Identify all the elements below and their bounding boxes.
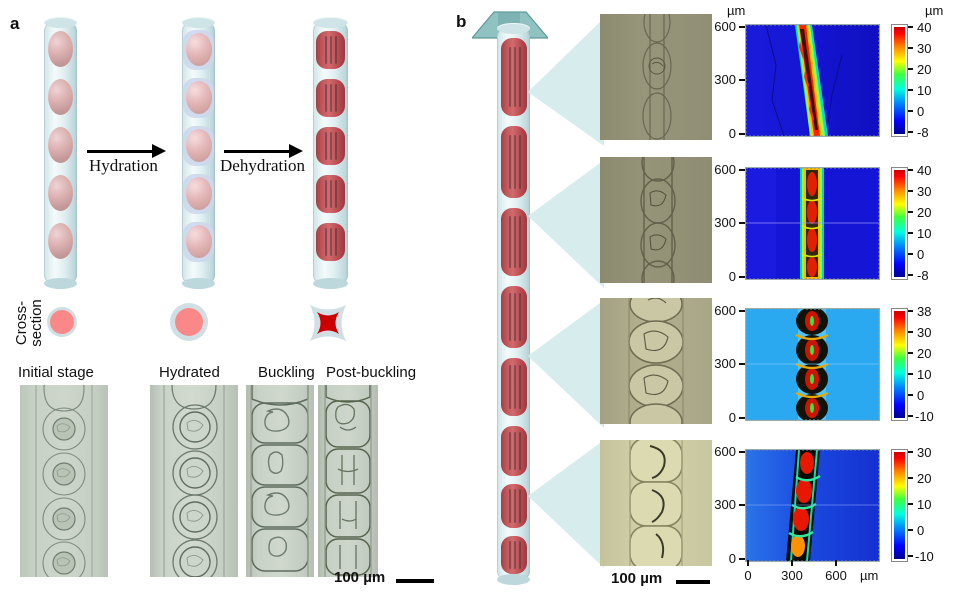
arrow-dehydration-label: Dehydration bbox=[220, 156, 305, 176]
heatmap-row2 bbox=[745, 167, 880, 280]
tube-cap-top bbox=[44, 17, 77, 28]
panel-b-capsule bbox=[501, 484, 527, 528]
row3-cb-tick-0: 0 bbox=[917, 388, 924, 403]
x-tick-0: 0 bbox=[735, 568, 761, 583]
panel-b-scale-bar-label: 100 µm bbox=[611, 570, 662, 587]
row3-ytick-600: 600 bbox=[708, 303, 736, 318]
row4-cb-tick-20: 20 bbox=[917, 471, 931, 486]
schematic-capsule bbox=[316, 175, 345, 213]
row3-cb-tick-38: 38 bbox=[917, 304, 931, 319]
schematic-sphere bbox=[48, 223, 73, 259]
tube-cap-bottom bbox=[497, 574, 530, 585]
row1-cb-tick-n8: -8 bbox=[917, 125, 929, 140]
micrograph-initial-stage bbox=[20, 385, 108, 577]
row4-cb-tick-30: 30 bbox=[917, 445, 931, 460]
panel-a-scale-bar-label: 100 µm bbox=[334, 569, 385, 586]
micrograph-post-buckling bbox=[318, 385, 378, 577]
tube-cap-top bbox=[182, 17, 215, 28]
x-tick-600: 600 bbox=[823, 568, 849, 583]
panel-b-micrograph-row4 bbox=[600, 440, 712, 566]
cross-section-label-line2: section bbox=[29, 288, 44, 358]
panel-b-schematic-tube bbox=[497, 28, 530, 580]
stage-label-hydrated: Hydrated bbox=[159, 364, 220, 381]
schematic-sphere bbox=[48, 31, 73, 67]
schematic-sphere bbox=[186, 129, 212, 162]
x-axis-unit: µm bbox=[860, 568, 878, 583]
row4-ytick-300: 300 bbox=[708, 497, 736, 512]
panel-b-capsule bbox=[501, 286, 527, 348]
panel-b-capsule bbox=[501, 126, 527, 198]
row1-ytick-300: 300 bbox=[708, 72, 736, 87]
schematic-sphere bbox=[186, 225, 212, 258]
stage-label-buckling: Buckling bbox=[258, 364, 315, 381]
row3-cb-tick-n10: -10 bbox=[915, 409, 934, 424]
row3-cb-tick-10: 10 bbox=[917, 367, 931, 382]
schematic-tube-hydrated bbox=[182, 22, 215, 284]
row3-ytick-0: 0 bbox=[708, 410, 736, 425]
micrograph-hydrated bbox=[150, 385, 238, 577]
row2-cb-tick-40: 40 bbox=[917, 163, 931, 178]
schematic-sphere bbox=[48, 127, 73, 163]
schematic-sphere bbox=[186, 33, 212, 66]
schematic-capsule bbox=[316, 127, 345, 165]
callout-wedge bbox=[528, 160, 604, 290]
heatmap-row3 bbox=[745, 308, 880, 421]
row1-cb-tick-10: 10 bbox=[917, 83, 931, 98]
panel-b-scale-bar bbox=[676, 580, 710, 584]
row1-cb-unit: µm bbox=[925, 3, 943, 18]
schematic-sphere bbox=[186, 177, 212, 210]
schematic-sphere bbox=[186, 81, 212, 114]
x-tick-300: 300 bbox=[779, 568, 805, 583]
row3-cb-tick-30: 30 bbox=[917, 325, 931, 340]
panel-a-letter: a bbox=[10, 14, 19, 34]
figure-root: a Hydration Dehydration bbox=[0, 0, 955, 596]
row1-cb-tick-20: 20 bbox=[917, 62, 931, 77]
heatmap-row4 bbox=[745, 449, 880, 562]
row3-cb-tick-20: 20 bbox=[917, 346, 931, 361]
panel-b-micrograph-row3 bbox=[600, 298, 712, 424]
panel-b-capsule bbox=[501, 536, 527, 574]
row4-ytick-0: 0 bbox=[708, 551, 736, 566]
panel-b-capsule bbox=[501, 38, 527, 116]
tube-cap-bottom bbox=[182, 278, 215, 289]
panel-a-scale-bar bbox=[396, 579, 434, 583]
callout-wedge bbox=[528, 300, 604, 430]
micrograph-buckling bbox=[246, 385, 314, 577]
schematic-capsule bbox=[316, 31, 345, 69]
row2-ytick-300: 300 bbox=[708, 215, 736, 230]
tube-cap-bottom bbox=[44, 278, 77, 289]
panel-b-capsule bbox=[501, 358, 527, 416]
callout-wedge bbox=[528, 18, 604, 148]
tube-cap-top bbox=[497, 23, 530, 34]
row2-cb-tick-n8: -8 bbox=[917, 268, 929, 283]
heatmap-row1 bbox=[745, 24, 880, 137]
row3-ytick-300: 300 bbox=[708, 356, 736, 371]
panel-b-capsule bbox=[501, 208, 527, 276]
schematic-capsule bbox=[316, 79, 345, 117]
row2-ytick-0: 0 bbox=[708, 269, 736, 284]
row4-ytick-600: 600 bbox=[708, 444, 736, 459]
stage-label-post-buckling: Post-buckling bbox=[326, 364, 416, 381]
row1-ytick-600: 600 bbox=[708, 19, 736, 34]
row4-cb-tick-10: 10 bbox=[917, 497, 931, 512]
row1-y-unit: µm bbox=[727, 3, 745, 18]
cross-section-buckled bbox=[305, 300, 351, 346]
schematic-sphere bbox=[48, 175, 73, 211]
schematic-tube-initial bbox=[44, 22, 77, 284]
row1-cb-tick-30: 30 bbox=[917, 41, 931, 56]
row1-ytick-0: 0 bbox=[708, 126, 736, 141]
row1-cb-tick-40: 40 bbox=[917, 20, 931, 35]
schematic-sphere bbox=[48, 79, 73, 115]
arrow-hydration-label: Hydration bbox=[89, 156, 158, 176]
row1-cb-tick-0: 0 bbox=[917, 104, 924, 119]
colorbar-row1 bbox=[891, 24, 908, 137]
cross-section-label-line1: Cross- bbox=[14, 288, 29, 358]
panel-b-micrograph-row2 bbox=[600, 157, 712, 283]
cross-section-label: Cross- section bbox=[14, 288, 44, 358]
callout-wedge bbox=[528, 440, 604, 570]
stage-label-initial: Initial stage bbox=[18, 364, 94, 381]
panel-b-capsule bbox=[501, 426, 527, 476]
row2-cb-tick-20: 20 bbox=[917, 205, 931, 220]
schematic-capsule bbox=[316, 223, 345, 261]
tube-cap-top bbox=[313, 17, 348, 28]
colorbar-row4 bbox=[891, 449, 908, 562]
panel-b-micrograph-row1 bbox=[600, 14, 712, 140]
row2-cb-tick-0: 0 bbox=[917, 247, 924, 262]
colorbar-row2 bbox=[891, 167, 908, 280]
row2-ytick-600: 600 bbox=[708, 162, 736, 177]
colorbar-row3 bbox=[891, 308, 908, 421]
row4-cb-tick-0: 0 bbox=[917, 523, 924, 538]
schematic-tube-dehydrated bbox=[313, 22, 348, 284]
tube-cap-bottom bbox=[313, 278, 348, 289]
row2-cb-tick-10: 10 bbox=[917, 226, 931, 241]
row2-cb-tick-30: 30 bbox=[917, 184, 931, 199]
row4-cb-tick-n10: -10 bbox=[915, 549, 934, 564]
panel-b-letter: b bbox=[456, 12, 466, 32]
